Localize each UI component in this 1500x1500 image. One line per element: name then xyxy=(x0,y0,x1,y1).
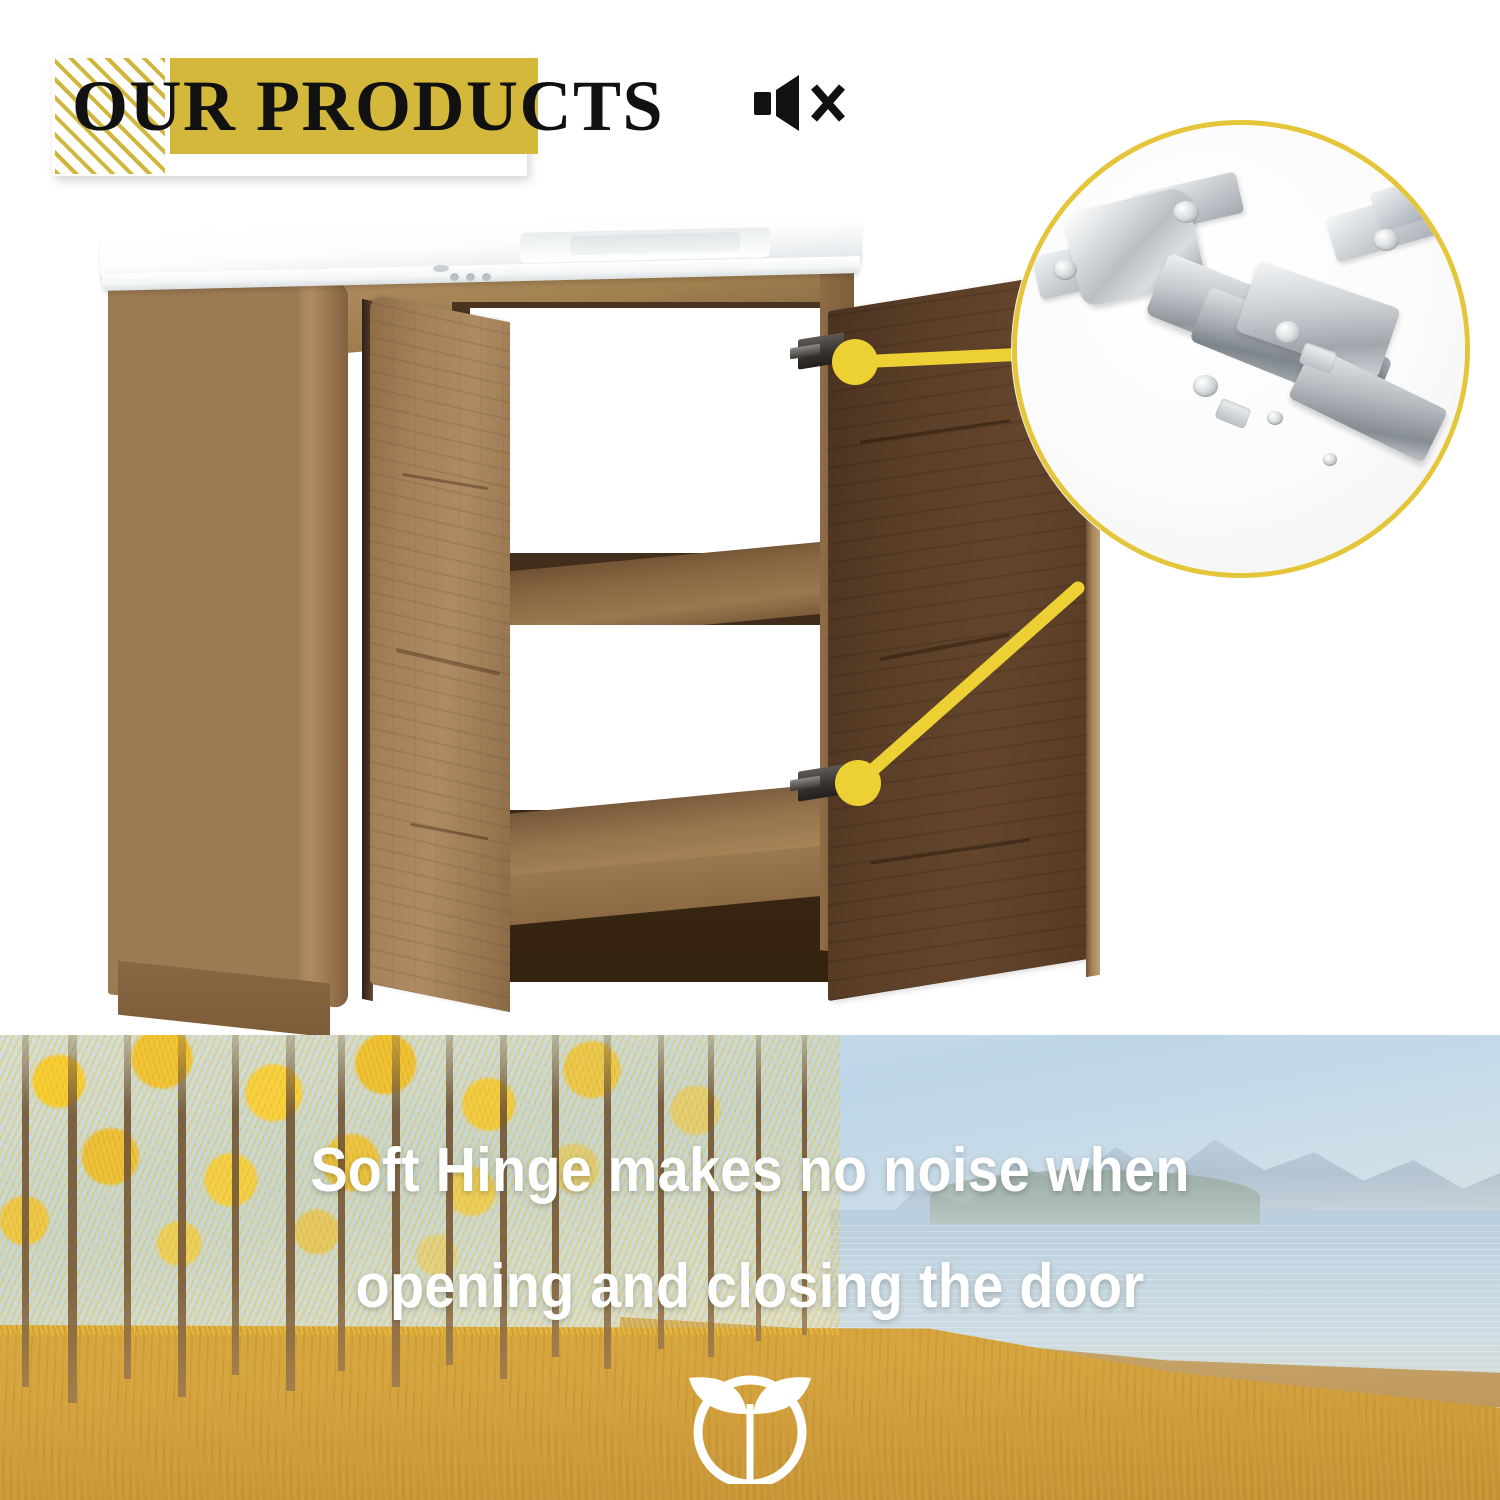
hinge-rivet xyxy=(1053,259,1077,280)
sink-bowl-inner xyxy=(570,232,740,255)
cabinet-lower-cavity xyxy=(478,625,828,810)
speaker-mute-icon xyxy=(752,72,848,134)
cabinet-left-side-panel xyxy=(108,254,330,1018)
tagline-line-2: opening and closing the door xyxy=(75,1229,1425,1345)
tagline-line-1: Soft Hinge makes no noise when xyxy=(75,1113,1425,1229)
tree-trunk xyxy=(22,1035,29,1387)
hinge-detail-callout-circle xyxy=(1012,120,1470,578)
page-title: OUR PRODUCTS xyxy=(72,54,792,158)
hinge-pivot-pin xyxy=(1267,411,1283,425)
product-infographic-page: OUR PRODUCTS xyxy=(0,0,1500,1500)
ceramic-sink-top xyxy=(100,225,880,287)
left-cabinet-door[interactable] xyxy=(370,294,510,1012)
sprout-leaf-circle-icon xyxy=(667,1352,833,1484)
hinge-pivot-pin xyxy=(1323,453,1337,466)
cabinet-left-rounded-edge xyxy=(300,277,348,1008)
cabinet-upper-cavity xyxy=(470,308,825,553)
hinge-rivet xyxy=(1373,229,1399,251)
hinge-rivet xyxy=(1193,375,1218,397)
hinge-rivet xyxy=(1275,321,1301,344)
banner-tagline: Soft Hinge makes no noise when opening a… xyxy=(75,1113,1425,1345)
hinge-rivet xyxy=(1173,201,1199,223)
